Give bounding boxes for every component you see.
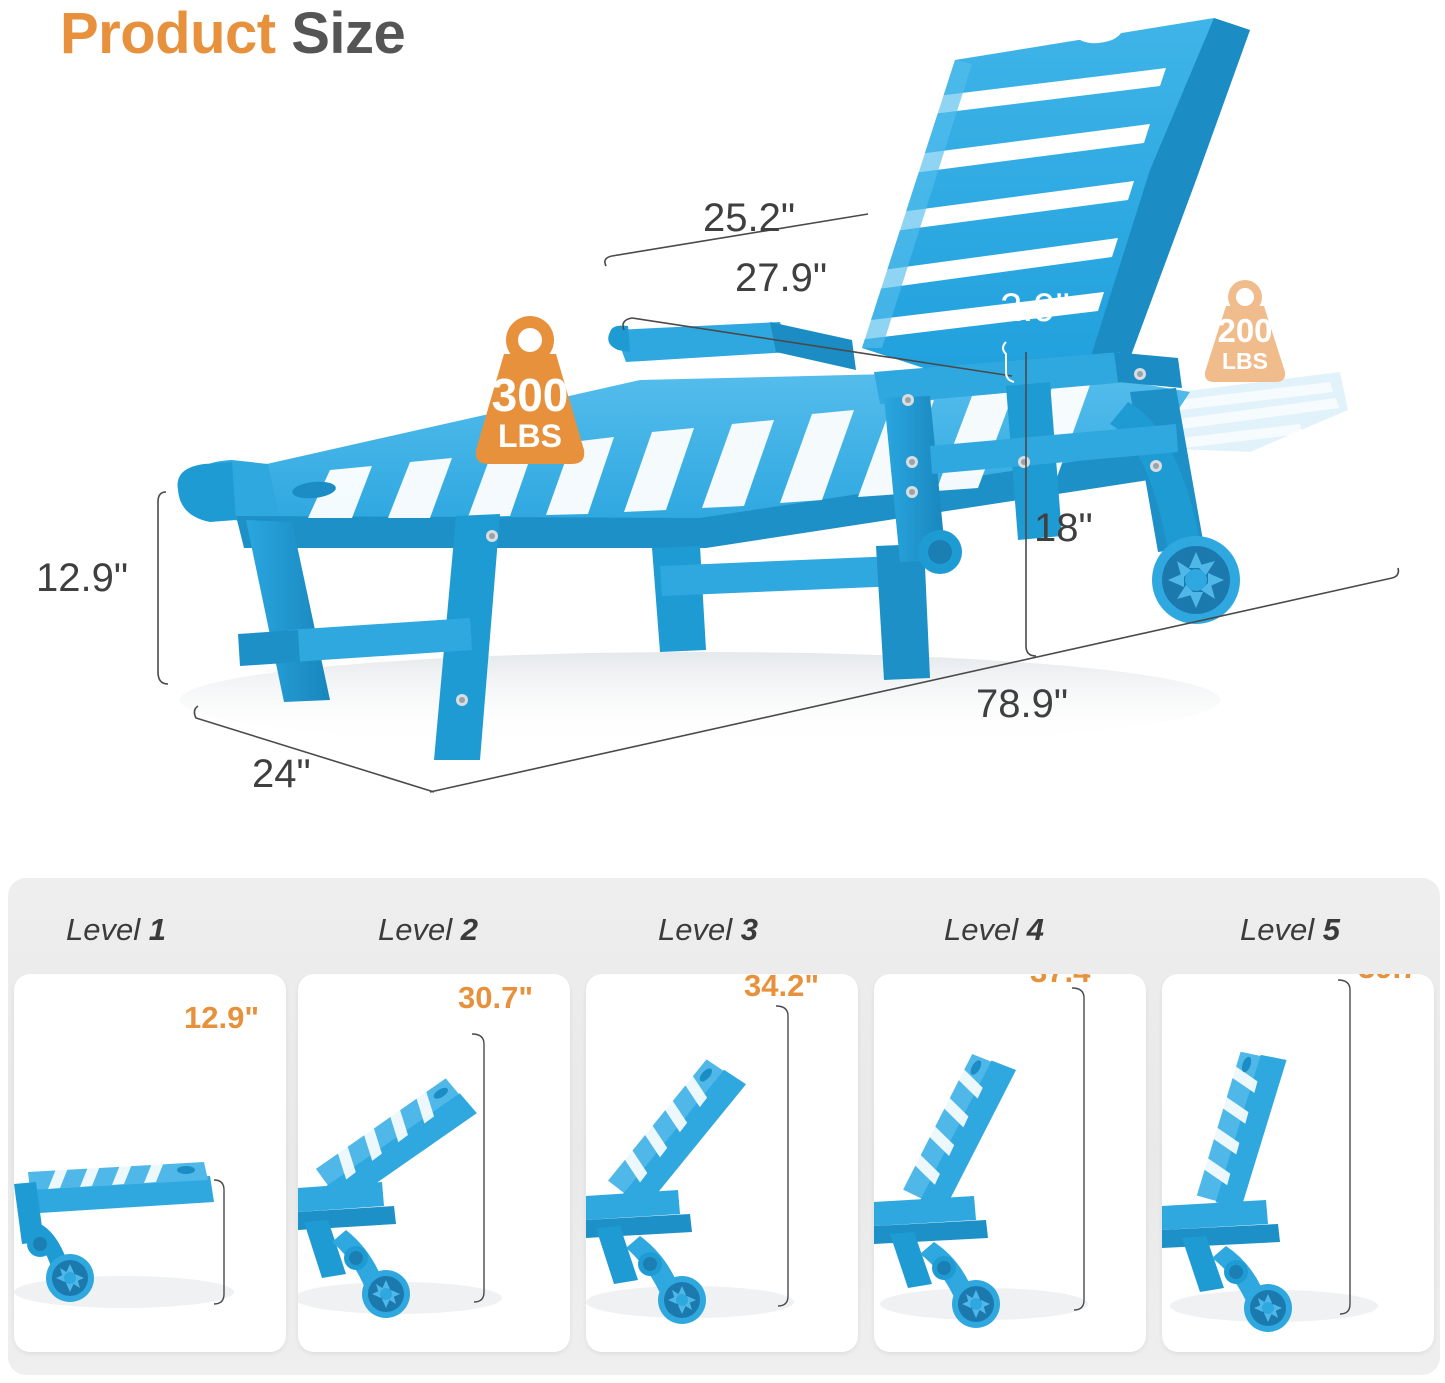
level-label-3: Level 3 [658, 912, 758, 948]
level-word-1: Level [66, 912, 140, 947]
level-card-3: 34.2" [586, 974, 858, 1352]
level-card-4: 37.4" [874, 974, 1146, 1352]
level-word-5: Level [1240, 912, 1314, 947]
chair-side-view-level-2 [298, 974, 570, 1352]
level-label-4: Level 4 [944, 912, 1044, 948]
badge-number-300: 300 [460, 368, 600, 422]
dimension-label-slat-thickness: 2.9" [1000, 286, 1070, 331]
backrest [850, 16, 1250, 400]
recline-levels-panel: Level 1 Level 2 Level 3 Level 4 Level 5 [8, 878, 1440, 1375]
dimension-label-overall-width: 24" [252, 752, 311, 797]
level-card-5: 39.7" [1162, 974, 1434, 1352]
level-height-3: 34.2" [744, 974, 819, 1004]
level-number-4: 4 [1027, 912, 1044, 947]
level-number-5: 5 [1323, 912, 1340, 947]
level-number-1: 1 [149, 912, 166, 947]
chair-side-view-level-3 [586, 974, 858, 1352]
level-height-2: 30.7" [458, 980, 533, 1016]
badge-weight-capacity-backrest: 200 LBS [1193, 276, 1297, 386]
level-height-4: 37.4" [1030, 974, 1105, 990]
level-height-1: 12.9" [184, 1000, 259, 1036]
level-card-1: 12.9" [14, 974, 286, 1352]
level-card-2: 30.7" [298, 974, 570, 1352]
level-label-1: Level 1 [66, 912, 166, 948]
chair-side-view-level-5 [1162, 974, 1434, 1352]
badge-unit-lbs-300: LBS [460, 418, 600, 455]
level-number-2: 2 [461, 912, 478, 947]
dimension-label-seat-front-height: 12.9" [36, 556, 128, 601]
level-height-5: 39.7" [1358, 974, 1433, 986]
badge-number-200: 200 [1193, 312, 1297, 350]
dimension-label-seat-back-height: 18" [1034, 506, 1093, 551]
chair-side-view-level-4 [874, 974, 1146, 1352]
level-number-3: 3 [741, 912, 758, 947]
level-label-5: Level 5 [1240, 912, 1340, 948]
dimension-label-overall-length: 78.9" [976, 682, 1068, 727]
level-word-4: Level [944, 912, 1018, 947]
level-cards-row: 12.9" [8, 974, 1440, 1369]
badge-unit-lbs-200: LBS [1193, 348, 1297, 375]
dimension-label-armrest-width: 27.9" [735, 256, 827, 301]
product-size-infographic: Product Size [0, 0, 1445, 1383]
levels-header-row: Level 1 Level 2 Level 3 Level 4 Level 5 [8, 878, 1440, 978]
badge-weight-capacity-seat: 300 LBS [460, 310, 600, 470]
level-label-2: Level 2 [378, 912, 478, 948]
hero-product-illustration: 25.2" 27.9" 2.9" 12.9" 18" 78.9" 24" 300… [0, 0, 1445, 855]
level-word-3: Level [658, 912, 732, 947]
dimension-label-backrest-width: 25.2" [703, 196, 795, 241]
level-word-2: Level [378, 912, 452, 947]
chaise-lounge-drawing [0, 0, 1445, 855]
